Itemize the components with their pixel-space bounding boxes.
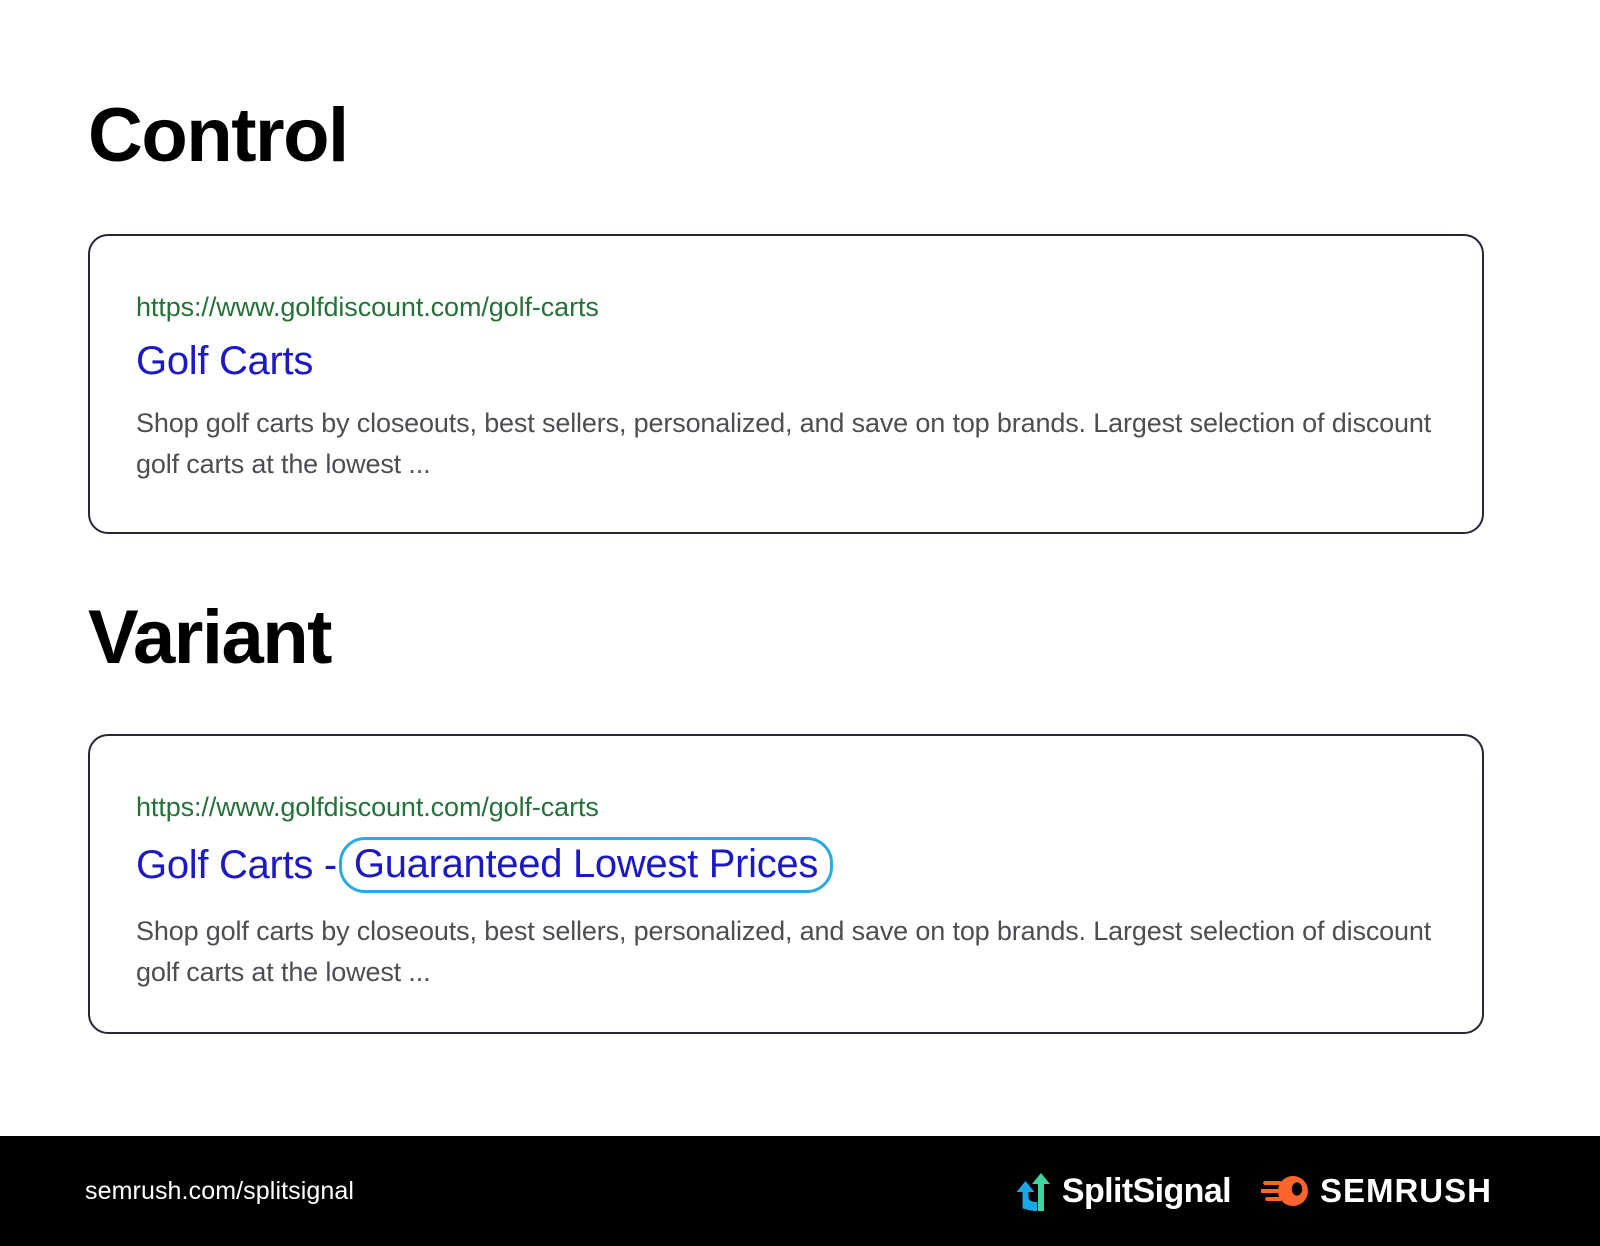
slide-canvas: Control https://www.golfdiscount.com/gol…	[0, 0, 1600, 1246]
semrush-wordmark: SEMRUSH	[1320, 1172, 1492, 1210]
control-result-title-row: Golf Carts	[136, 337, 1442, 385]
control-serp-content: https://www.golfdiscount.com/golf-carts …	[136, 292, 1442, 485]
variant-result-description: Shop golf carts by closeouts, best selle…	[136, 911, 1442, 993]
variant-heading: Variant	[88, 600, 331, 676]
variant-serp-content: https://www.golfdiscount.com/golf-carts …	[136, 792, 1442, 993]
variant-result-title-base[interactable]: Golf Carts -	[136, 841, 337, 889]
footer-url-label: semrush.com/splitsignal	[85, 1177, 354, 1206]
variant-result-title-row: Golf Carts - Guaranteed Lowest Prices	[136, 837, 1442, 893]
control-serp-card: https://www.golfdiscount.com/golf-carts …	[88, 234, 1484, 534]
variant-serp-card: https://www.golfdiscount.com/golf-carts …	[88, 734, 1484, 1034]
variant-result-url[interactable]: https://www.golfdiscount.com/golf-carts	[136, 792, 1442, 823]
semrush-logo: SEMRUSH	[1261, 1172, 1492, 1210]
splitsignal-logo: SplitSignal	[1011, 1171, 1231, 1211]
control-result-url[interactable]: https://www.golfdiscount.com/golf-carts	[136, 292, 1442, 323]
control-result-description: Shop golf carts by closeouts, best selle…	[136, 403, 1442, 485]
control-result-title[interactable]: Golf Carts	[136, 337, 313, 385]
splitsignal-fork-icon	[1011, 1171, 1053, 1211]
semrush-comet-icon	[1261, 1174, 1311, 1208]
footer-bar: semrush.com/splitsignal SplitSignal	[0, 1136, 1600, 1246]
control-heading: Control	[88, 98, 348, 174]
footer-logo-group: SplitSignal SEMRUSH	[1011, 1171, 1492, 1211]
splitsignal-wordmark: SplitSignal	[1062, 1172, 1231, 1211]
variant-title-highlight-callout: Guaranteed Lowest Prices	[339, 837, 833, 893]
